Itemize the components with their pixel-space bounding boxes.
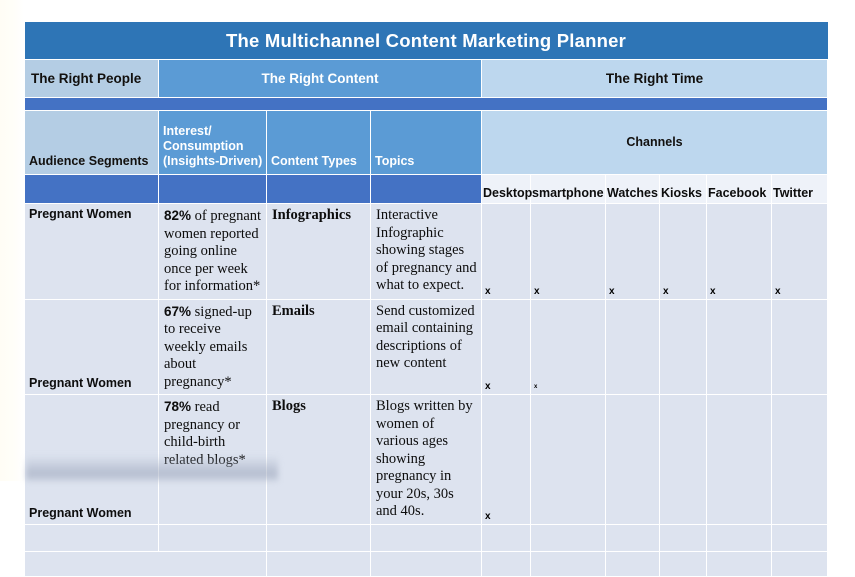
cell-content-type: Infographics bbox=[267, 204, 371, 300]
table-row: Pregnant Women 82% of pregnant women rep… bbox=[25, 204, 828, 300]
band-right-time: The Right Time bbox=[482, 60, 828, 98]
cell-channel-smartphone[interactable]: x bbox=[531, 299, 606, 395]
cell-content-type: Emails bbox=[267, 299, 371, 395]
cell-channel-watches[interactable]: x bbox=[606, 204, 660, 300]
cell-channel-smartphone[interactable]: x bbox=[531, 204, 606, 300]
channel-header-facebook: Facebook bbox=[707, 175, 772, 204]
channel-header-kiosks: Kiosks bbox=[660, 175, 707, 204]
channel-subheader-row: Desktop smartphone Watches Kiosks Facebo… bbox=[25, 175, 828, 204]
cell-audience-segment-empty[interactable] bbox=[25, 524, 159, 551]
cell-partial-topic[interactable] bbox=[371, 551, 482, 576]
header-row: Audience Segments Interest/ Consumption … bbox=[25, 111, 828, 175]
cell-partial-twitter[interactable] bbox=[772, 551, 828, 576]
cell-channel-kiosks-empty[interactable] bbox=[660, 524, 707, 551]
cell-partial-left[interactable] bbox=[25, 551, 267, 576]
subheader-spacer-interest bbox=[159, 175, 267, 204]
cell-channel-twitter[interactable] bbox=[772, 395, 828, 525]
title-row: The Multichannel Content Marketing Plann… bbox=[25, 22, 828, 60]
table-row: Pregnant Women 78% read pregnancy or chi… bbox=[25, 395, 828, 525]
cell-content-type-empty[interactable] bbox=[267, 524, 371, 551]
header-topics: Topics bbox=[371, 111, 482, 175]
subheader-spacer-content-types bbox=[267, 175, 371, 204]
subheader-spacer-topics bbox=[371, 175, 482, 204]
slide-left-edge bbox=[0, 0, 24, 481]
header-channels: Channels bbox=[482, 111, 828, 175]
table-row-empty bbox=[25, 524, 828, 551]
cell-partial-facebook[interactable] bbox=[707, 551, 772, 576]
cell-channel-desktop[interactable]: x bbox=[482, 395, 531, 525]
channel-header-twitter: Twitter bbox=[772, 175, 828, 204]
channel-header-smartphone: smartphone bbox=[531, 175, 606, 204]
channel-header-watches: Watches bbox=[606, 175, 660, 204]
header-interest-line-1: Interest/ bbox=[163, 124, 263, 139]
separator-strip bbox=[25, 98, 828, 111]
cell-insight: 67% signed-up to receive weekly emails a… bbox=[159, 299, 267, 395]
cell-channel-kiosks[interactable] bbox=[660, 395, 707, 525]
slide-canvas: The Multichannel Content Marketing Plann… bbox=[0, 0, 855, 481]
cell-topic: Blogs written by women of various ages s… bbox=[371, 395, 482, 525]
subheader-spacer-audience bbox=[25, 175, 159, 204]
planner-title-cell: The Multichannel Content Marketing Plann… bbox=[25, 22, 828, 60]
cell-partial-kiosks[interactable] bbox=[660, 551, 707, 576]
cell-partial-desktop[interactable] bbox=[482, 551, 531, 576]
header-interest-line-3: (Insights-Driven) bbox=[163, 154, 263, 169]
band-row: The Right People The Right Content The R… bbox=[25, 60, 828, 98]
cell-channel-kiosks[interactable] bbox=[660, 299, 707, 395]
cell-audience-segment: Pregnant Women bbox=[25, 204, 159, 300]
cell-topic: Interactive Infographic showing stages o… bbox=[371, 204, 482, 300]
cell-topic-empty[interactable] bbox=[371, 524, 482, 551]
cell-channel-twitter[interactable] bbox=[772, 299, 828, 395]
header-interest-consumption: Interest/ Consumption (Insights-Driven) bbox=[159, 111, 267, 175]
cell-channel-desktop-empty[interactable] bbox=[482, 524, 531, 551]
cell-insight: 82% of pregnant women reported going onl… bbox=[159, 204, 267, 300]
cell-channel-desktop[interactable]: x bbox=[482, 204, 531, 300]
cell-channel-watches[interactable] bbox=[606, 395, 660, 525]
cell-channel-twitter[interactable]: x bbox=[772, 204, 828, 300]
cell-channel-smartphone[interactable] bbox=[531, 395, 606, 525]
planner-table: The Multichannel Content Marketing Plann… bbox=[24, 22, 828, 577]
cell-channel-twitter-empty[interactable] bbox=[772, 524, 828, 551]
insight-stat: 82% bbox=[164, 208, 191, 223]
cell-channel-kiosks[interactable]: x bbox=[660, 204, 707, 300]
cell-channel-watches-empty[interactable] bbox=[606, 524, 660, 551]
cell-insight-empty[interactable] bbox=[159, 524, 267, 551]
cell-partial-smartphone[interactable] bbox=[531, 551, 606, 576]
cell-channel-desktop[interactable]: x bbox=[482, 299, 531, 395]
header-audience-segments: Audience Segments bbox=[25, 111, 159, 175]
cell-partial-content-type[interactable] bbox=[267, 551, 371, 576]
band-right-people: The Right People bbox=[25, 60, 159, 98]
cell-channel-smartphone-empty[interactable] bbox=[531, 524, 606, 551]
table-row: Pregnant Women 67% signed-up to receive … bbox=[25, 299, 828, 395]
table-row-partial bbox=[25, 551, 828, 576]
separator-row bbox=[25, 98, 828, 111]
cell-topic: Send customized email containing descrip… bbox=[371, 299, 482, 395]
cell-partial-watches[interactable] bbox=[606, 551, 660, 576]
cell-channel-facebook[interactable]: x bbox=[707, 204, 772, 300]
channel-header-desktop: Desktop bbox=[482, 175, 531, 204]
cell-audience-segment: Pregnant Women bbox=[25, 299, 159, 395]
cell-channel-facebook-empty[interactable] bbox=[707, 524, 772, 551]
planner-table-container: The Multichannel Content Marketing Plann… bbox=[24, 22, 827, 577]
header-content-types: Content Types bbox=[267, 111, 371, 175]
cell-content-type: Blogs bbox=[267, 395, 371, 525]
header-interest-line-2: Consumption bbox=[163, 139, 263, 154]
band-right-content: The Right Content bbox=[159, 60, 482, 98]
page-title: The Multichannel Content Marketing Plann… bbox=[25, 22, 828, 59]
cell-insight: 78% read pregnancy or child-birth relate… bbox=[159, 395, 267, 525]
insight-stat: 67% bbox=[164, 304, 191, 319]
cell-channel-watches[interactable] bbox=[606, 299, 660, 395]
cell-audience-segment: Pregnant Women bbox=[25, 395, 159, 525]
cell-channel-facebook[interactable] bbox=[707, 299, 772, 395]
insight-stat: 78% bbox=[164, 399, 191, 414]
cell-channel-facebook[interactable] bbox=[707, 395, 772, 525]
